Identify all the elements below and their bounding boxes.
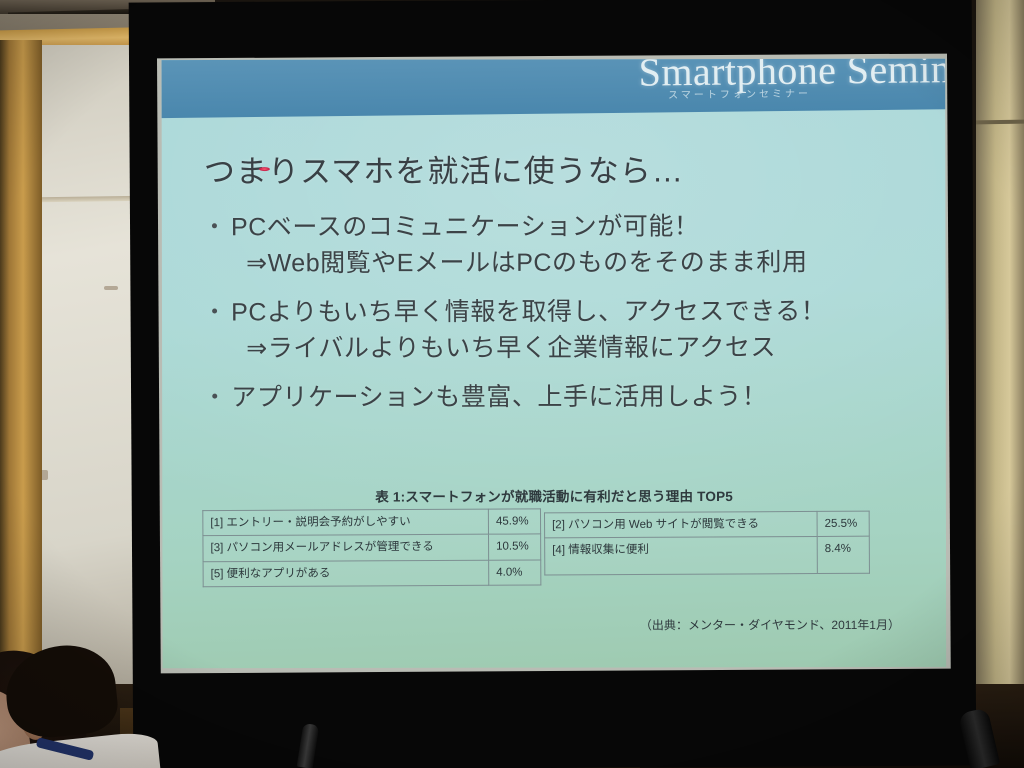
bullet-line-primary: PCベースのコミュニケーションが可能！	[212, 209, 913, 246]
laser-pointer-dot	[259, 167, 270, 171]
table-cell-percent: 8.4%	[817, 537, 869, 574]
right-wall-seam	[976, 120, 1024, 125]
seminar-subtitle: スマートフォンセミナー	[668, 85, 811, 102]
table-cell-percent: 45.9%	[488, 509, 540, 535]
bullet-item: PCよりもいち早く情報を取得し、アクセスできる！ ⇒ライバルよりもいち早く企業情…	[212, 294, 914, 366]
projection-screen-frame: Smartphone Seminar スマートフォンセミナー つまりスマホを就活…	[129, 0, 977, 768]
bullet-dot-icon	[212, 224, 217, 229]
table-caption: 表 1:スマートフォンが就職活動に有利だと思う理由 TOP5	[162, 485, 946, 506]
table-row: [4] 情報収集に便利 8.4%	[545, 537, 870, 575]
bullet-item: PCベースのコミュニケーションが可能！ ⇒Web閲覧やEメールはPCのものをその…	[212, 209, 914, 281]
right-wall	[976, 0, 1024, 768]
table-right-half: [2] パソコン用 Web サイトが閲覧できる 25.5% [4] 情報収集に便…	[544, 511, 870, 576]
whiteboard-mark	[104, 286, 118, 290]
table-source-note: （出典：メンター・ダイヤモンド、2011年1月）	[640, 616, 900, 633]
table-cell-label: [2] パソコン用 Web サイトが閲覧できる	[544, 511, 817, 538]
table-cell-percent: 25.5%	[817, 511, 869, 537]
projection-screen-border: Smartphone Seminar スマートフォンセミナー つまりスマホを就活…	[157, 54, 951, 674]
bullet-text: PCベースのコミュニケーションが可能！	[231, 212, 699, 241]
bullet-line-primary: アプリケーションも豊富、上手に活用しよう！	[212, 379, 913, 416]
presentation-slide: Smartphone Seminar スマートフォンセミナー つまりスマホを就活…	[162, 59, 947, 669]
bullet-item: アプリケーションも豊富、上手に活用しよう！	[212, 379, 913, 416]
bullet-list: PCベースのコミュニケーションが可能！ ⇒Web閲覧やEメールはPCのものをその…	[212, 209, 914, 430]
slide-header-band: Smartphone Seminar スマートフォンセミナー	[162, 59, 947, 119]
table-cell-label: [1] エントリー・説明会予約がしやすい	[203, 509, 489, 536]
table-cell-percent: 4.0%	[489, 560, 541, 586]
bullet-line-primary: PCよりもいち早く情報を取得し、アクセスできる！	[212, 294, 913, 331]
table-row: [3] パソコン用メールアドレスが管理できる 10.5%	[203, 534, 541, 561]
table-row: [2] パソコン用 Web サイトが閲覧できる 25.5%	[544, 511, 869, 538]
bullet-text: アプリケーションも豊富、上手に活用しよう！	[231, 383, 767, 412]
table-left-half: [1] エントリー・説明会予約がしやすい 45.9% [3] パソコン用メールア…	[202, 508, 541, 587]
table-row: [5] 便利なアプリがある 4.0%	[203, 560, 541, 587]
bullet-dot-icon	[212, 309, 217, 314]
bullet-text: PCよりもいち早く情報を取得し、アクセスできる！	[231, 297, 826, 326]
bullet-dot-icon	[212, 394, 217, 399]
table-cell-percent: 10.5%	[488, 534, 540, 560]
table-cell-label: [3] パソコン用メールアドレスが管理できる	[203, 535, 489, 562]
slide-heading: つまりスマホを就活に使うなら…	[204, 145, 684, 191]
bullet-line-secondary: ⇒ライバルよりもいち早く企業情報にアクセス	[212, 330, 913, 367]
table-cell-label: [5] 便利なアプリがある	[203, 560, 489, 587]
bullet-line-secondary: ⇒Web閲覧やEメールはPCのものをそのまま利用	[212, 245, 913, 282]
table-row: [1] エントリー・説明会予約がしやすい 45.9%	[203, 509, 541, 536]
table-cell-label: [4] 情報収集に便利	[545, 537, 818, 575]
statistics-table: [1] エントリー・説明会予約がしやすい 45.9% [3] パソコン用メールア…	[202, 506, 904, 587]
